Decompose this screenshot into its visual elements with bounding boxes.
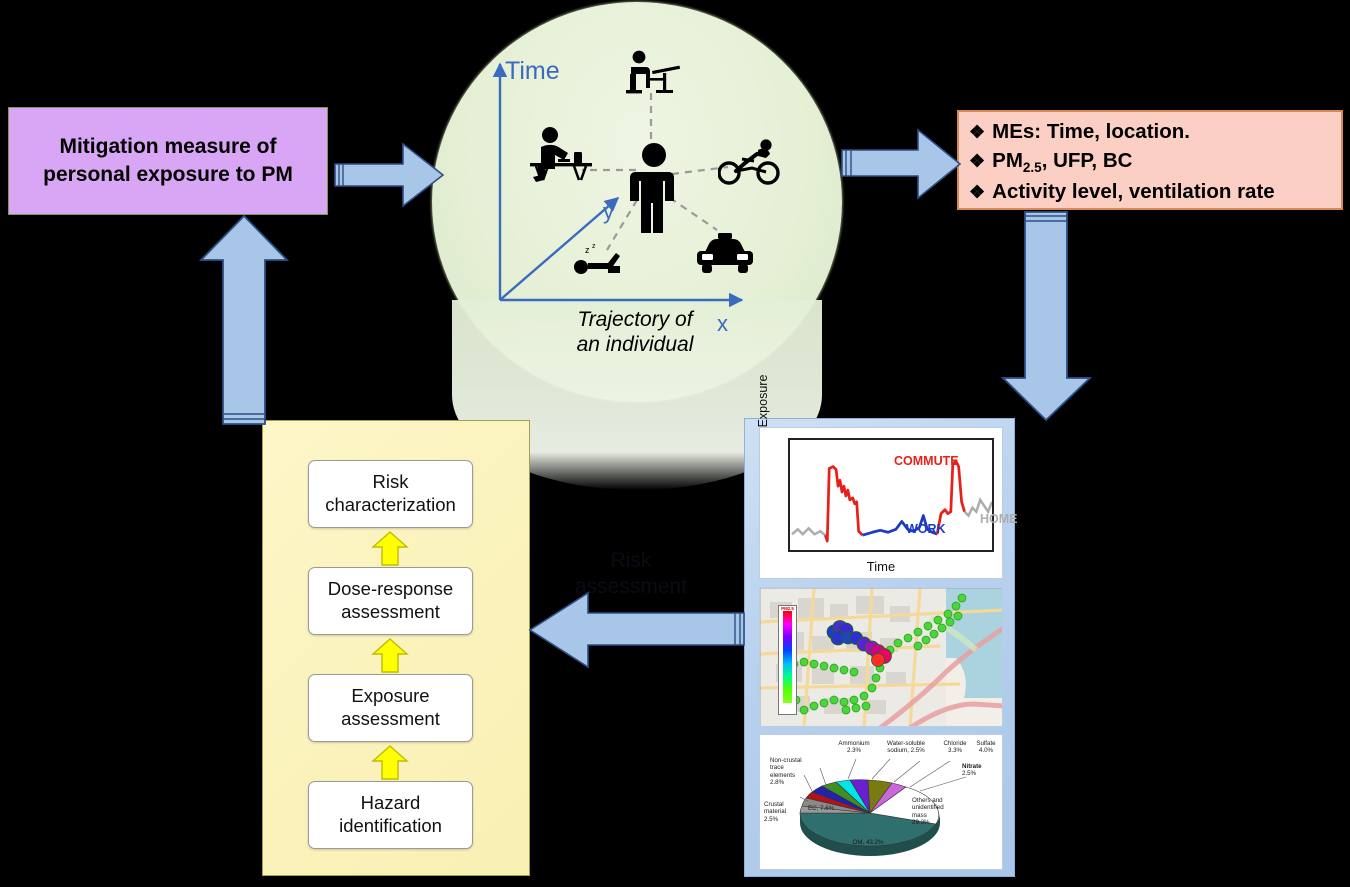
pm-map-card[interactable]: PM2.5 (759, 587, 1003, 727)
exposure-chart-plot: COMMUTE WORK HOME (788, 438, 994, 552)
series-label-work: WORK (906, 522, 946, 536)
pie-label-om: OM, 43.2% (838, 839, 898, 846)
arrow-inputs-to-evidence (1000, 210, 1094, 422)
risk-step-label: Exposureassessment (341, 685, 440, 730)
risk-step-label: Hazardidentification (339, 792, 442, 837)
exposure-chart-xlabel: Time (760, 559, 1002, 574)
sleeping-icon: z z (568, 243, 630, 279)
inputs-item-1-text: MEs: Time, location. (992, 117, 1190, 146)
risk-framework-panel: Riskcharacterization Dose-responseassess… (262, 420, 530, 876)
arrow-evidence-to-risk (528, 591, 746, 669)
pm-legend: PM2.5 (778, 605, 797, 715)
mitigation-line2: personal exposure to PM (43, 161, 293, 189)
risk-step-hazard-identification[interactable]: Hazardidentification (308, 781, 473, 849)
risk-step-risk-characterization[interactable]: Riskcharacterization (308, 460, 473, 528)
up-arrow-icon (371, 638, 409, 674)
inputs-item-3-text: Activity level, ventilation rate (992, 177, 1275, 206)
inputs-item-3: ❖ Activity level, ventilation rate (969, 177, 1333, 206)
exposure-chart-svg (790, 440, 992, 550)
office-desk-icon (622, 50, 688, 102)
pie-label-nitrate: Nitrate2.5% (962, 763, 1000, 778)
pm-subscript: 2.5 (1023, 160, 1042, 175)
mitigation-box[interactable]: Mitigation measure of personal exposure … (8, 107, 328, 215)
mitigation-line1: Mitigation measure of (43, 133, 293, 161)
arrow-mitigation-to-trajectory (333, 138, 445, 212)
pie-label-chloride: Chloride3.3% (938, 740, 972, 755)
pie-label-others: Others andunidentifiedmass29.3% (912, 797, 968, 827)
pie-label-sulfate: Sulfate4.0% (972, 740, 1000, 755)
series-label-commute: COMMUTE (894, 454, 959, 468)
risk-step-exposure-assessment[interactable]: Exposureassessment (308, 674, 473, 742)
pm-legend-colorbar (783, 611, 792, 703)
diamond-bullet-icon: ❖ (969, 123, 985, 141)
trajectory-caption: Trajectory of an individual (560, 307, 710, 357)
evidence-panel: Exposure COMMUTE WORK HOME Time (744, 418, 1015, 877)
trajectory-caption-line1: Trajectory of (560, 307, 710, 332)
risk-step-label: Riskcharacterization (325, 471, 456, 516)
svg-text:z: z (585, 245, 590, 255)
eating-at-table-icon (528, 125, 606, 185)
exposure-timeseries-card[interactable]: Exposure COMMUTE WORK HOME Time (759, 427, 1003, 579)
y-axis-label: y (603, 199, 614, 225)
inputs-item-2: ❖ PM2.5, UFP, BC (969, 146, 1333, 177)
time-axis-label: Time (505, 57, 560, 86)
pm-prefix: PM (992, 149, 1023, 172)
arrow-trajectory-to-inputs (840, 126, 962, 202)
cycling-icon (718, 138, 782, 186)
pie-label-ammonium: Ammonium2.3% (832, 740, 876, 755)
diamond-bullet-icon: ❖ (969, 152, 985, 170)
svg-text:z: z (592, 243, 596, 250)
pm-suffix: , UFP, BC (1042, 149, 1133, 172)
diagram-canvas: Time x y Trajectory of an individual (0, 0, 1350, 887)
pm-legend-title: PM2.5 (779, 606, 796, 611)
taxi-car-icon (694, 232, 756, 276)
diamond-bullet-icon: ❖ (969, 183, 985, 201)
inputs-box[interactable]: ❖ MEs: Time, location. ❖ PM2.5, UFP, BC … (957, 110, 1343, 210)
mitigation-label: Mitigation measure of personal exposure … (33, 133, 303, 190)
inputs-item-2-text: PM2.5, UFP, BC (992, 146, 1132, 177)
inputs-item-1: ❖ MEs: Time, location. (969, 117, 1333, 146)
risk-step-dose-response-assessment[interactable]: Dose-responseassessment (308, 567, 473, 635)
ghost-line1: Risk (536, 548, 726, 574)
up-arrow-icon (371, 531, 409, 567)
pie-label-ec: EC, 7.6% (808, 805, 860, 812)
composition-pie-card[interactable]: Ammonium2.3% Water-solublesodium, 2.5% C… (759, 734, 1003, 870)
risk-step-label: Dose-responseassessment (328, 578, 453, 623)
standing-person-icon (629, 142, 679, 234)
arrow-risk-to-mitigation (199, 214, 289, 426)
exposure-chart-ylabel: Exposure (756, 356, 770, 446)
pie-label-crustal-material: Crustalmaterial2.5% (764, 801, 802, 823)
trajectory-caption-line2: an individual (560, 332, 710, 357)
up-arrow-icon (371, 745, 409, 781)
pie-label-water-soluble-sodium: Water-solublesodium, 2.5% (878, 740, 934, 755)
series-label-home: HOME (980, 512, 1018, 526)
x-axis-label: x (717, 311, 728, 337)
pie-label-non-crustal-trace-elements: Non-crustaltraceelements2.8% (770, 757, 812, 787)
